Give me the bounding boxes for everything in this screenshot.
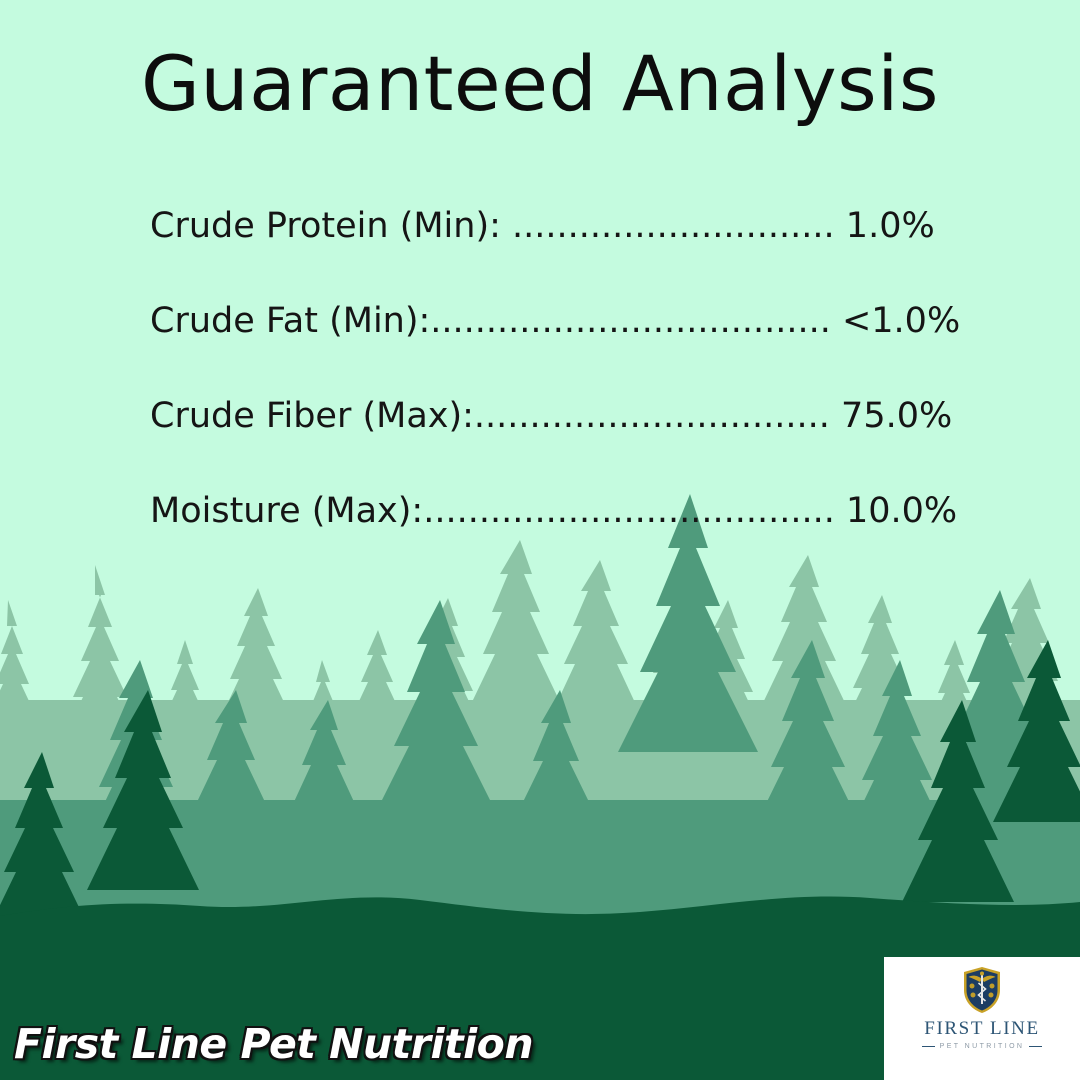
analysis-row-text: Moisture (Max):.........................… [150, 491, 957, 531]
analysis-row-crude-fat: Crude Fat (Min):........................… [150, 295, 940, 390]
guaranteed-analysis-list: Crude Protein (Min): ...................… [150, 200, 940, 580]
logo-dash-right-icon [1029, 1046, 1042, 1048]
page-title: Guaranteed Analysis [0, 44, 1080, 124]
shield-caduceus-icon [962, 966, 1002, 1014]
poster-canvas: Guaranteed Analysis Crude Protein (Min):… [0, 0, 1080, 1080]
logo-primary-text: FIRST LINE [924, 1019, 1039, 1038]
logo-tagline-text: PET NUTRITION [940, 1043, 1025, 1050]
analysis-row-crude-protein: Crude Protein (Min): ...................… [150, 200, 940, 295]
analysis-row-text: Crude Protein (Min): ...................… [150, 206, 935, 246]
logo-tagline-row: PET NUTRITION [922, 1043, 1043, 1050]
brand-wordmark: First Line Pet Nutrition [14, 1020, 533, 1068]
brand-logo-card: FIRST LINE PET NUTRITION [884, 957, 1080, 1080]
analysis-row-text: Crude Fiber (Max):......................… [150, 396, 952, 436]
analysis-row-crude-fiber: Crude Fiber (Max):......................… [150, 390, 940, 485]
analysis-row-text: Crude Fat (Min):........................… [150, 301, 960, 341]
analysis-row-moisture: Moisture (Max):.........................… [150, 485, 940, 580]
logo-dash-left-icon [922, 1046, 935, 1048]
